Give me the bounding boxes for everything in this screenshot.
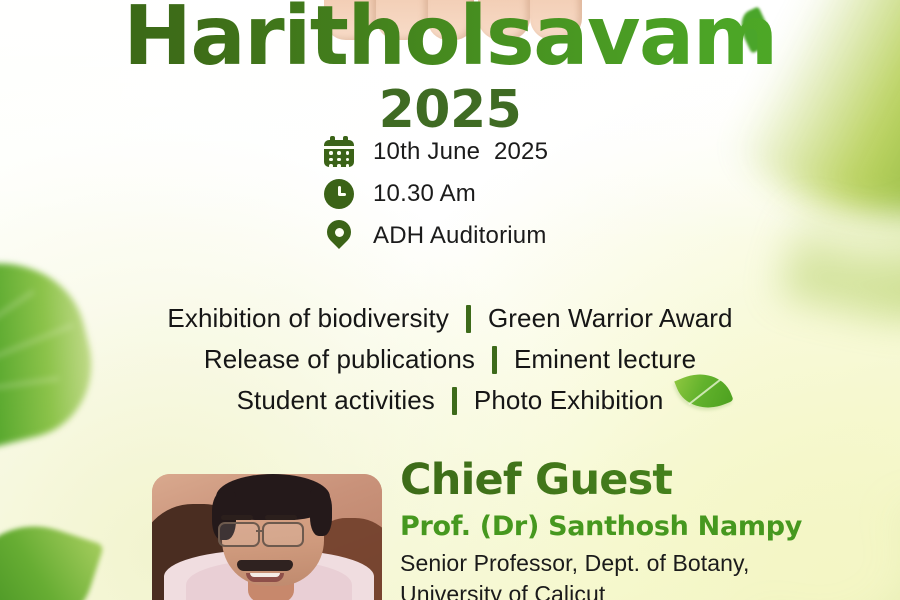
- portrait-eyeglasses: [262, 522, 304, 547]
- event-line: Exhibition of biodiversity Green Warrior…: [0, 298, 900, 339]
- event-details: 10th June 2025 10.30 Am ADH Auditorium: [322, 131, 548, 257]
- event-item-right: Photo Exhibition: [474, 385, 664, 416]
- portrait-eyeglasses: [218, 522, 260, 547]
- title-block: Haritholsavam 2025: [0, 0, 900, 136]
- poster-year: 2025: [0, 84, 900, 136]
- portrait-hair-right: [310, 490, 332, 536]
- chief-guest-affiliation: Senior Professor, Dept. of Botany, Unive…: [400, 548, 870, 600]
- portrait-eyebrow: [221, 515, 253, 520]
- chief-guest-name: Prof. (Dr) Santhosh Nampy: [400, 511, 870, 542]
- portrait-mouth: [246, 573, 284, 582]
- portrait-glasses-bridge: [256, 530, 264, 532]
- chief-guest-affiliation-line2: University of Calicut: [400, 579, 870, 600]
- event-item-right: Eminent lecture: [514, 344, 696, 375]
- event-line: Release of publications Eminent lecture: [0, 339, 900, 380]
- calendar-icon: [322, 135, 356, 169]
- poster-canvas: Haritholsavam 2025 10th June 2025 10.30 …: [0, 0, 900, 600]
- poster-title: Haritholsavam: [0, 0, 900, 78]
- event-separator: [492, 346, 497, 374]
- location-pin-icon: [322, 219, 356, 253]
- event-separator: [466, 305, 471, 333]
- clock-icon: [322, 177, 356, 211]
- portrait-mustache: [237, 560, 293, 571]
- detail-row-time: 10.30 Am: [322, 173, 548, 215]
- event-item-left: Student activities: [237, 385, 435, 416]
- detail-row-date: 10th June 2025: [322, 131, 548, 173]
- event-item-left: Release of publications: [204, 344, 475, 375]
- detail-date-text: 10th June 2025: [373, 138, 548, 166]
- events-list: Exhibition of biodiversity Green Warrior…: [0, 298, 900, 421]
- portrait-eyebrow: [265, 515, 297, 520]
- chief-guest-portrait-photo: [152, 474, 382, 600]
- event-separator: [452, 387, 457, 415]
- event-item-left: Exhibition of biodiversity: [167, 303, 449, 334]
- chief-guest-affiliation-line1: Senior Professor, Dept. of Botany,: [400, 548, 870, 579]
- detail-venue-text: ADH Auditorium: [373, 222, 547, 250]
- detail-time-text: 10.30 Am: [373, 180, 476, 208]
- event-line: Student activities Photo Exhibition: [0, 380, 900, 421]
- chief-guest-heading: Chief Guest: [400, 458, 870, 503]
- detail-row-venue: ADH Auditorium: [322, 215, 548, 257]
- event-item-right: Green Warrior Award: [488, 303, 733, 334]
- chief-guest-info: Chief Guest Prof. (Dr) Santhosh Nampy Se…: [400, 458, 870, 600]
